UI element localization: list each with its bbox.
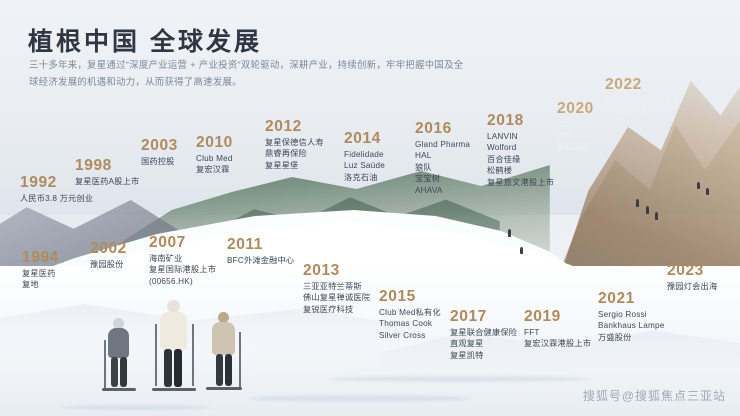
timeline-item: 三亚亚特兰蒂斯 <box>303 281 370 292</box>
skier-leg <box>111 357 118 387</box>
timeline-items: 复星医药A股上市 <box>75 176 139 187</box>
skier-torso <box>160 312 187 350</box>
timeline-items: 人民币3.8 万元创业 <box>20 193 93 204</box>
page-subtitle: 三十多年来，复星通过“深度产业运营 + 产业投资”双轮驱动，深耕产业，持续创新，… <box>29 56 469 90</box>
timeline-entry-2013[interactable]: 2013 三亚亚特兰蒂斯 佛山复星禅诚医院 复锐医疗科技 <box>303 262 370 315</box>
timeline-entry-2016[interactable]: 2016 Gland Pharma HAL 狼队 宝宝树 AHAVA <box>415 120 470 196</box>
timeline-year: 2002 <box>90 240 127 257</box>
timeline-item: 松鹤楼 <box>487 165 554 176</box>
timeline-items: Sergio Rossi Bankhaus Lampe 万盛股份 <box>598 309 665 343</box>
timeline-item: 国药控股 <box>141 156 178 167</box>
timeline-year: 2015 <box>379 288 441 305</box>
page-title: 植根中国 全球发展 <box>28 22 262 58</box>
ski-track <box>250 395 470 402</box>
distant-hiker <box>697 182 700 189</box>
distant-hiker <box>646 206 649 214</box>
timeline-entry-2023[interactable]: 2023 豫园灯会出海 <box>667 262 717 292</box>
timeline-items: Gland Pharma HAL 狼队 宝宝树 AHAVA <box>415 139 470 196</box>
distant-hiker <box>655 212 658 220</box>
ski-pole <box>155 324 157 386</box>
timeline-items: 国药控股 <box>141 156 178 167</box>
timeline-item: 复星保德信人寿 <box>265 137 324 148</box>
timeline-entry-2014[interactable]: 2014 Fidelidade Luz Saúde 洛克石油 <box>344 130 385 183</box>
skier-leg <box>174 349 182 387</box>
timeline-year: 2022 <box>605 76 681 93</box>
timeline-entry-2007[interactable]: 2007 海南矿业 复星国际港股上市 (00656.HK) <box>149 234 216 287</box>
timeline-item: 鼎睿再保险 <box>265 148 324 159</box>
timeline-entry-2012[interactable]: 2012 复星保德信人寿 鼎睿再保险 复星星堡 <box>265 118 324 171</box>
timeline-entry-2019[interactable]: 2019 FFT 复宏汉霖港股上市 <box>524 308 591 350</box>
timeline-item: 复星旅文港股上市 <box>487 177 554 188</box>
timeline-item: BFC外滩金融中心 <box>227 255 294 266</box>
skier-leg <box>120 357 127 387</box>
timeline-item: 豫园灯会出海 <box>667 281 717 292</box>
timeline-items: LANVIN Wolford 百合佳缘 松鹤楼 复星旅文港股上市 <box>487 131 554 188</box>
timeline-items: 豫园灯会出海 <box>667 281 717 292</box>
timeline-item: (00656.HK) <box>149 276 216 287</box>
timeline-items: Club Med私有化 Thomas Cook Silver Cross <box>379 307 441 341</box>
timeline-items: 复星医药 复地 <box>22 268 59 291</box>
timeline-item: 佛山复星禅诚医院 <box>303 292 370 303</box>
skier-torso <box>212 322 235 355</box>
timeline-year: 2007 <box>149 234 216 251</box>
timeline-item: Fidelidade <box>344 149 385 160</box>
foreground-skier-left <box>100 318 140 398</box>
timeline-item: DJULA <box>557 119 594 130</box>
ski-track <box>60 405 210 410</box>
timeline-items: Fidelidade Luz Saúde 洛克石油 <box>344 149 385 183</box>
skier-torso <box>108 328 129 358</box>
timeline-items: Club Med 复宏汉霖 <box>196 153 233 176</box>
timeline-item: 复星联合健康保险 <box>450 327 517 338</box>
ski <box>152 388 196 391</box>
ski <box>102 388 136 391</box>
foreground-skier-center <box>152 300 198 400</box>
timeline-item: Club Med <box>196 153 233 164</box>
ski-pole <box>104 340 106 388</box>
timeline-item: 宝宝树 <box>415 173 470 184</box>
timeline-year: 2018 <box>487 112 554 129</box>
timeline-item: Wolford <box>487 142 554 153</box>
timeline-entry-2003[interactable]: 2003 国药控股 <box>141 137 178 167</box>
timeline-items: 复星保德信人寿 鼎睿再保险 复星星堡 <box>265 137 324 171</box>
distant-hiker <box>636 199 639 207</box>
timeline-entry-2015[interactable]: 2015 Club Med私有化 Thomas Cook Silver Cros… <box>379 288 441 341</box>
timeline-entry-2017[interactable]: 2017 复星联合健康保险 直观复星 复星凯特 <box>450 308 517 361</box>
timeline-year: 1998 <box>75 157 139 174</box>
infographic-canvas: 植根中国 全球发展 三十多年来，复星通过“深度产业运营 + 产业投资”双轮驱动，… <box>0 0 740 416</box>
timeline-item: FFT <box>524 327 591 338</box>
ski-pole <box>192 324 194 386</box>
distant-hiker <box>520 247 523 254</box>
timeline-year: 2003 <box>141 137 178 154</box>
timeline-year: 2013 <box>303 262 370 279</box>
timeline-item: 百合佳缘 <box>487 154 554 165</box>
timeline-item: 复星医药A股上市 <box>75 176 139 187</box>
timeline-entry-2002[interactable]: 2002 豫园股份 <box>90 240 127 270</box>
timeline-item: 复朗集团纽交所上市 <box>605 95 681 106</box>
timeline-items: 豫园股份 <box>90 259 127 270</box>
timeline-entry-2021[interactable]: 2021 Sergio Rossi Bankhaus Lampe 万盛股份 <box>598 290 665 343</box>
watermark: 搜狐号@搜狐焦点三亚站 <box>583 387 726 404</box>
timeline-item: 复锐医疗科技 <box>303 304 370 315</box>
timeline-item: LANVIN <box>487 131 554 142</box>
timeline-item: 海南矿业 <box>149 253 216 264</box>
timeline-item: 狼队 <box>415 162 470 173</box>
timeline-entry-1994[interactable]: 1994 复星医药 复地 <box>22 249 59 291</box>
timeline-item: 洛克石油 <box>344 172 385 183</box>
timeline-items: 三亚亚特兰蒂斯 佛山复星禅诚医院 复锐医疗科技 <box>303 281 370 315</box>
timeline-items: 复星联合健康保险 直观复星 复星凯特 <box>450 327 517 361</box>
timeline-item: 复地 <box>22 279 59 290</box>
timeline-year: 2011 <box>227 236 294 253</box>
timeline-items: BFC外滩金融中心 <box>227 255 294 266</box>
timeline-item: WEI <box>557 130 594 141</box>
timeline-entry-2020[interactable]: 2020 DJULA WEI 舍得酒业 <box>557 100 594 153</box>
timeline-year: 2019 <box>524 308 591 325</box>
timeline-year: 2023 <box>667 262 717 279</box>
foreground-skier-right <box>205 312 245 398</box>
timeline-item: 万盛股份 <box>598 332 665 343</box>
timeline-item: Thomas Cook <box>379 318 441 329</box>
skier-leg <box>216 354 223 386</box>
timeline-item: 复星凯特 <box>450 350 517 361</box>
timeline-year: 2014 <box>344 130 385 147</box>
skier-leg <box>225 354 232 386</box>
timeline-item: 直观复星 <box>450 338 517 349</box>
timeline-item: Silver Cross <box>379 330 441 341</box>
timeline-year: 2012 <box>265 118 324 135</box>
timeline-item: 人民币3.8 万元创业 <box>20 193 93 204</box>
timeline-year: 1994 <box>22 249 59 266</box>
timeline-items: 复朗集团纽交所上市 夜郎古酒庄 <box>605 95 681 118</box>
timeline-item: 豫园股份 <box>90 259 127 270</box>
ski-track <box>330 376 590 382</box>
timeline-year: 2010 <box>196 134 233 151</box>
timeline-entry-2010[interactable]: 2010 Club Med 复宏汉霖 <box>196 134 233 176</box>
timeline-year: 2017 <box>450 308 517 325</box>
ski-pole <box>239 332 241 387</box>
timeline-entry-2022[interactable]: 2022 复朗集团纽交所上市 夜郎古酒庄 <box>605 76 681 118</box>
timeline-items: FFT 复宏汉霖港股上市 <box>524 327 591 350</box>
timeline-item: AHAVA <box>415 185 470 196</box>
timeline-entry-2011[interactable]: 2011 BFC外滩金融中心 <box>227 236 294 266</box>
timeline-item: Gland Pharma <box>415 139 470 150</box>
skier-leg <box>164 349 172 387</box>
distant-hiker <box>706 188 709 195</box>
distant-hiker <box>508 229 511 237</box>
timeline-year: 2020 <box>557 100 594 117</box>
timeline-year: 2021 <box>598 290 665 307</box>
timeline-item: 舍得酒业 <box>557 142 594 153</box>
timeline-items: 海南矿业 复星国际港股上市 (00656.HK) <box>149 253 216 287</box>
timeline-item: 复星星堡 <box>265 160 324 171</box>
timeline-item: Luz Saúde <box>344 160 385 171</box>
timeline-item: 夜郎古酒庄 <box>605 106 681 117</box>
timeline-entry-2018[interactable]: 2018 LANVIN Wolford 百合佳缘 松鹤楼 复星旅文港股上市 <box>487 112 554 188</box>
timeline-year: 2016 <box>415 120 470 137</box>
timeline-item: 复宏汉霖港股上市 <box>524 338 591 349</box>
timeline-item: Sergio Rossi <box>598 309 665 320</box>
timeline-item: Bankhaus Lampe <box>598 320 665 331</box>
timeline-item: HAL <box>415 150 470 161</box>
timeline-entry-1998[interactable]: 1998 复星医药A股上市 <box>75 157 139 187</box>
timeline-items: DJULA WEI 舍得酒业 <box>557 119 594 153</box>
timeline-item: 复宏汉霖 <box>196 164 233 175</box>
timeline-item: Club Med私有化 <box>379 307 441 318</box>
timeline-item: 复星国际港股上市 <box>149 264 216 275</box>
ski <box>206 387 242 390</box>
timeline-item: 复星医药 <box>22 268 59 279</box>
